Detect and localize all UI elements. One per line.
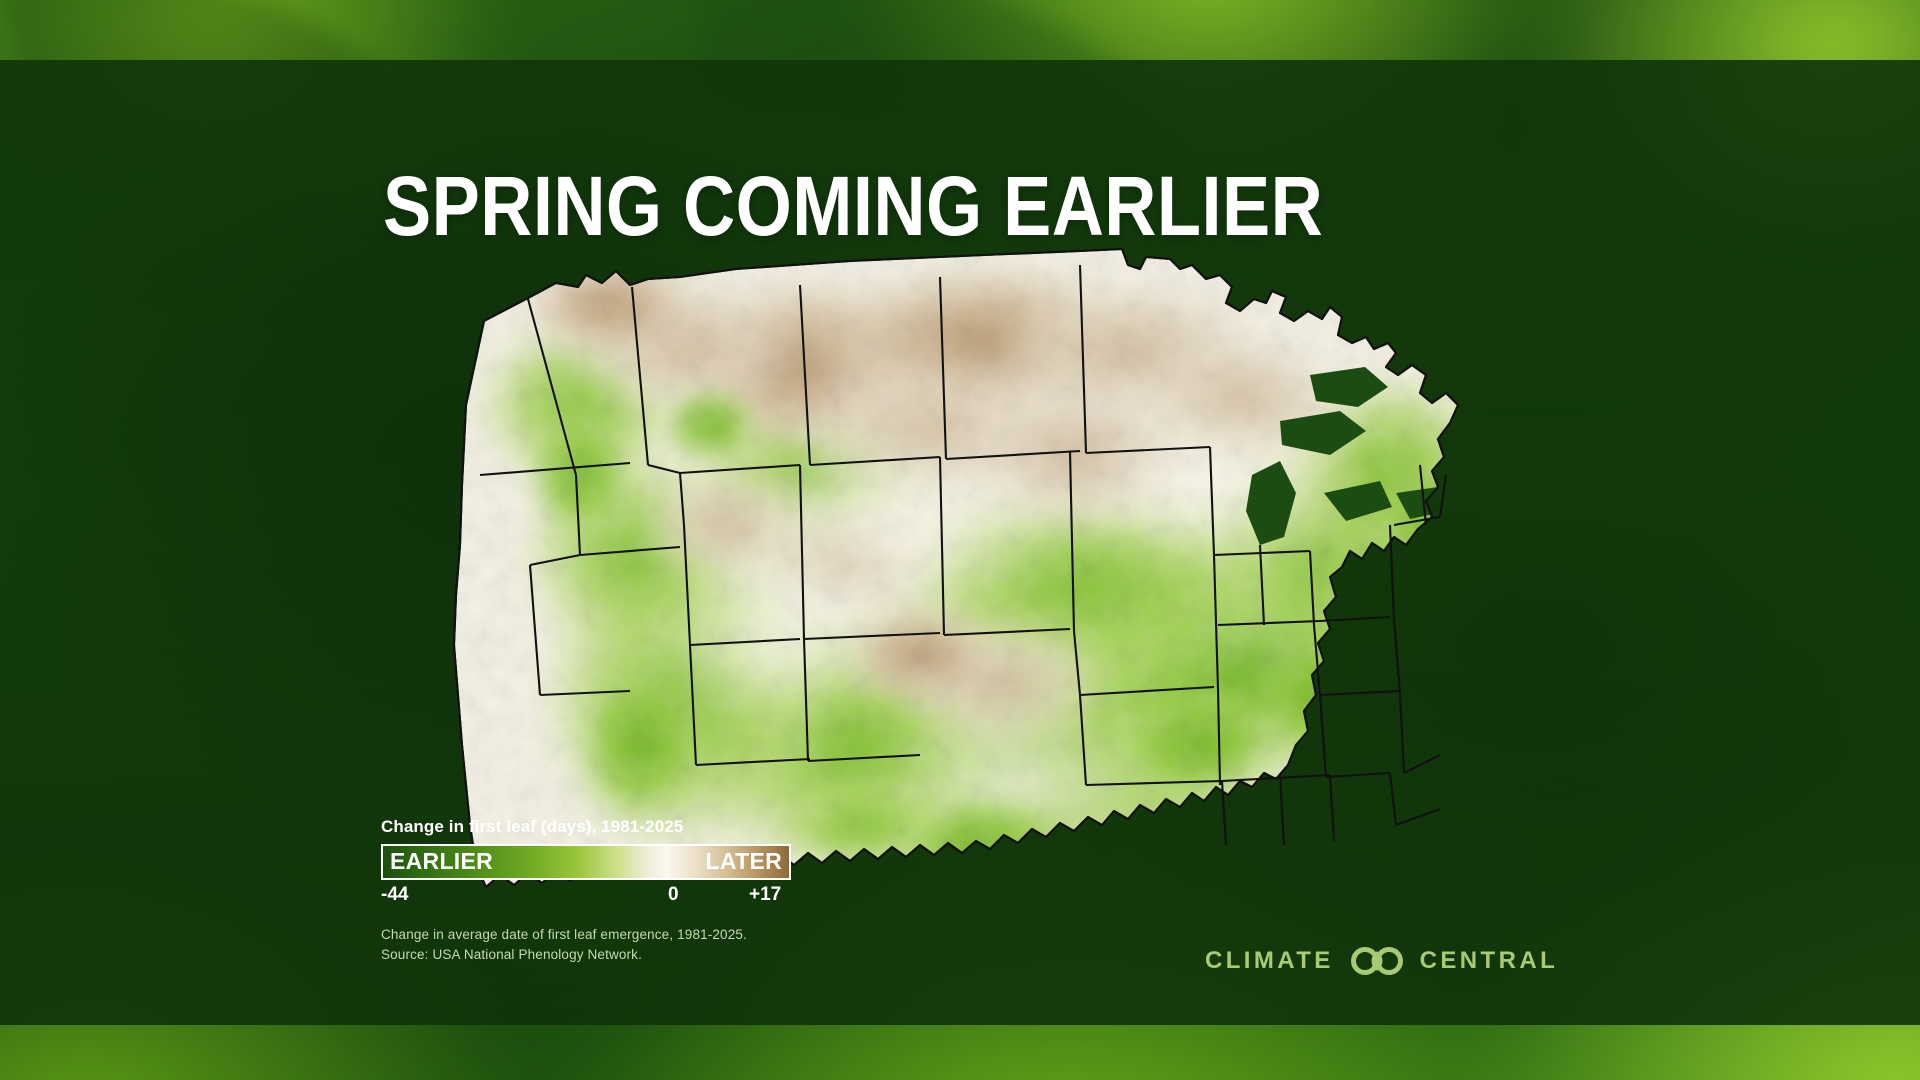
- source-line-1: Change in average date of first leaf eme…: [381, 925, 791, 945]
- logo-word-climate: CLIMATE: [1205, 947, 1334, 975]
- climate-central-logo: CLIMATE CENTRAL: [1205, 947, 1558, 975]
- legend-label-later: LATER: [706, 848, 782, 875]
- interlocking-circles-icon: [1347, 947, 1407, 975]
- legend-tick-mid: 0: [668, 884, 679, 906]
- legend-label-earlier: EARLIER: [390, 848, 493, 875]
- legend-title: Change in first leaf (days), 1981-2025: [381, 817, 791, 837]
- map-legend: Change in first leaf (days), 1981-2025 E…: [381, 817, 791, 964]
- legend-tick-max: +17: [749, 884, 781, 906]
- legend-tick-labels: -44 0 +17: [381, 884, 791, 912]
- infographic-canvas: SPRING COMING EARLIER: [0, 0, 1920, 1080]
- logo-word-central: CENTRAL: [1420, 947, 1558, 975]
- source-note: Change in average date of first leaf eme…: [381, 925, 791, 964]
- legend-color-bar: EARLIER LATER: [381, 844, 791, 880]
- legend-tick-min: -44: [381, 884, 408, 906]
- source-line-2: Source: USA National Phenology Network.: [381, 945, 791, 965]
